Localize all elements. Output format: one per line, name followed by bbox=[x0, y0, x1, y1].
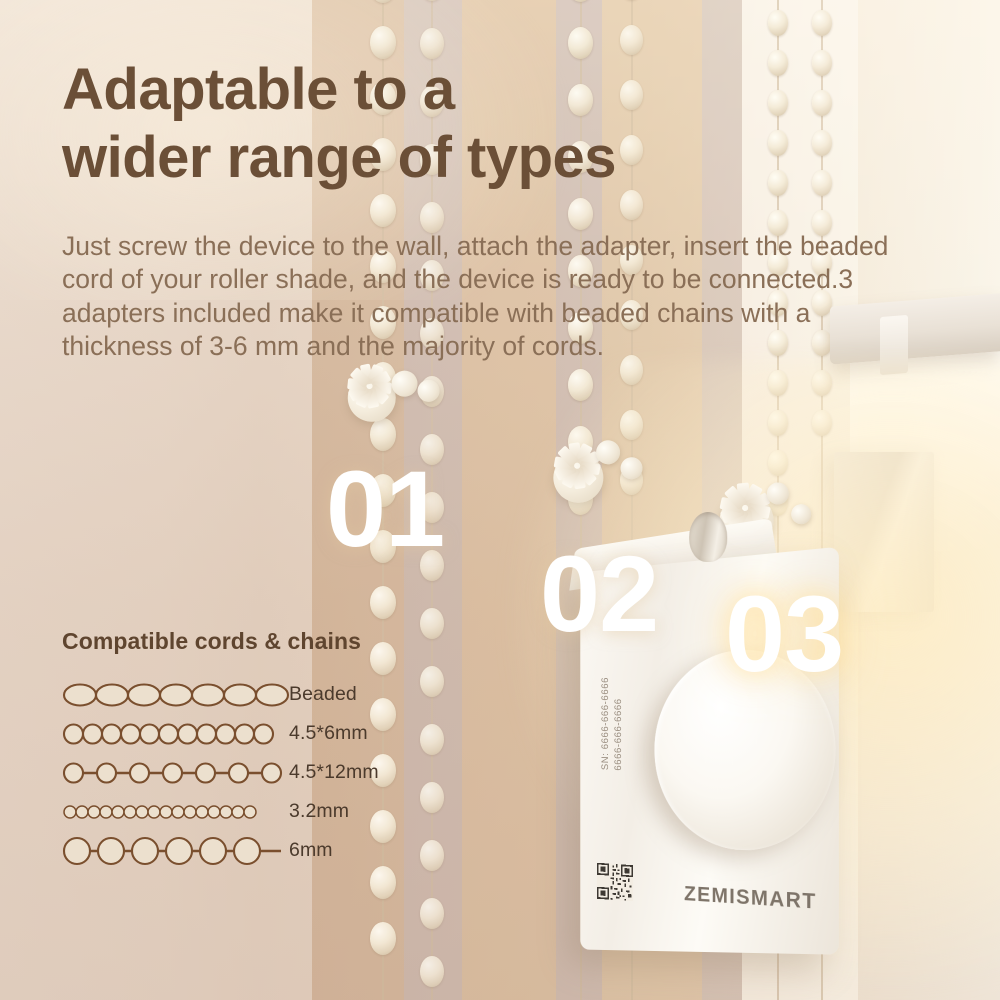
step-number-02: 02 bbox=[540, 540, 658, 648]
chain-bead bbox=[768, 170, 788, 196]
chain-bead bbox=[370, 922, 396, 955]
legend-row: Beaded bbox=[62, 675, 422, 714]
adapter-part-02 bbox=[532, 428, 663, 534]
legend-label: 6mm bbox=[276, 839, 333, 862]
chain-bead bbox=[370, 194, 396, 227]
chain-bead bbox=[620, 190, 643, 220]
legend-label: 4.5*6mm bbox=[276, 722, 368, 745]
headline-line-2: wider range of types bbox=[62, 124, 762, 192]
chain-bead bbox=[420, 0, 444, 1]
chain-bead bbox=[812, 90, 832, 116]
legend-label: Beaded bbox=[276, 683, 357, 706]
chain-bead bbox=[768, 90, 788, 116]
chain-bead bbox=[768, 130, 788, 156]
chain-bead bbox=[370, 26, 396, 59]
bead-knob bbox=[619, 456, 644, 481]
device-serial-text: SN: 6666-666-6666 6666-666-6666 bbox=[600, 677, 624, 771]
chain-bead bbox=[568, 0, 593, 2]
description-paragraph: Just screw the device to the wall, attac… bbox=[62, 230, 922, 364]
chain-bead bbox=[420, 840, 444, 871]
device-cord-socket bbox=[689, 512, 727, 563]
chain-glyph-small-round-chain bbox=[62, 717, 276, 751]
legend-row: 3.2mm bbox=[62, 792, 422, 831]
product-marketing-image: SN: 6666-666-6666 6666-666-6666 ZEMISMAR… bbox=[0, 0, 1000, 1000]
chain-bead bbox=[420, 202, 444, 233]
chain-bead bbox=[420, 898, 444, 929]
chain-bead bbox=[768, 10, 788, 36]
page-title: Adaptable to a wider range of types bbox=[62, 56, 762, 192]
qr-code-icon bbox=[597, 860, 633, 905]
legend-title: Compatible cords & chains bbox=[62, 628, 422, 655]
legend-rows: Beaded4.5*6mm4.5*12mm3.2mm6mm bbox=[62, 675, 422, 870]
headline-line-1: Adaptable to a bbox=[62, 57, 455, 122]
chain-bead bbox=[812, 50, 832, 76]
chain-glyph-tiny-round-chain bbox=[62, 795, 276, 829]
chain-bead bbox=[420, 666, 444, 697]
chain-glyph-large-bar-chain bbox=[62, 834, 276, 868]
legend-row: 6mm bbox=[62, 831, 422, 870]
chain-bead bbox=[568, 27, 593, 59]
legend-row: 4.5*6mm bbox=[62, 714, 422, 753]
bead-knob bbox=[595, 439, 622, 466]
chain-bead bbox=[812, 10, 832, 36]
chain-glyph-oval-chain bbox=[62, 678, 276, 712]
serial-line-2: 6666-666-6666 bbox=[613, 677, 624, 771]
bead-knob bbox=[790, 503, 812, 525]
chain-glyph-spaced-bar-chain bbox=[62, 756, 276, 790]
chain-bead bbox=[620, 25, 643, 55]
chain-bead bbox=[568, 198, 593, 230]
serial-line-1: SN: 6666-666-6666 bbox=[600, 677, 611, 771]
legend-label: 4.5*12mm bbox=[276, 761, 379, 784]
chain-bead bbox=[420, 724, 444, 755]
chain-bead bbox=[812, 170, 832, 196]
chain-bead bbox=[420, 28, 444, 59]
chain-bead bbox=[420, 608, 444, 639]
legend-row: 4.5*12mm bbox=[62, 753, 422, 792]
chain-bead bbox=[370, 586, 396, 619]
chain-bead bbox=[370, 0, 396, 3]
chain-bead bbox=[370, 866, 396, 899]
chain-bead bbox=[768, 50, 788, 76]
compatible-cords-legend: Compatible cords & chains Beaded4.5*6mm4… bbox=[62, 628, 422, 870]
chain-bead bbox=[812, 130, 832, 156]
chain-bead bbox=[420, 782, 444, 813]
chain-bead bbox=[420, 956, 444, 987]
legend-label: 3.2mm bbox=[276, 800, 349, 823]
step-number-03: 03 bbox=[725, 580, 843, 688]
step-number-01: 01 bbox=[326, 455, 444, 563]
bead-knob bbox=[416, 378, 442, 404]
